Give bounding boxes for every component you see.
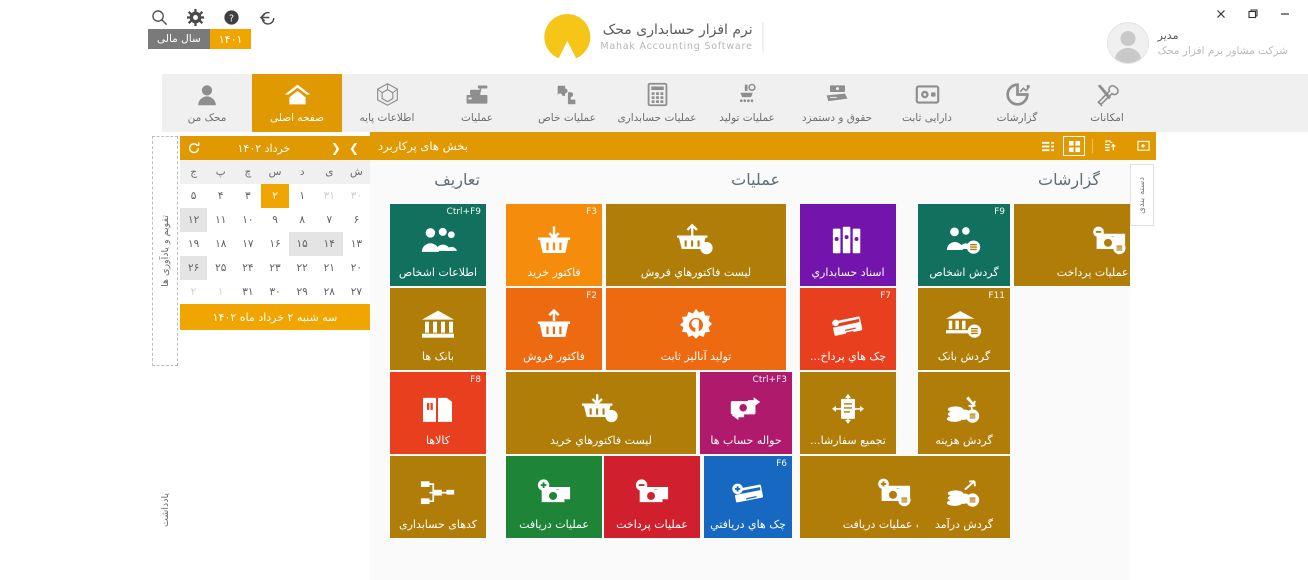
calendar-day[interactable]: ۸ (289, 208, 316, 232)
tile-label: عملیات پرداخت (604, 518, 700, 531)
dashboard-column-title: گزارشات (896, 170, 1106, 204)
dashboard-tile[interactable]: بانک ها (390, 288, 486, 370)
calendar-dow: چ (234, 160, 261, 184)
dashboard-columns: تعاریفCtrl+F9اطلاعات اشخاصبانک هاF8کالاه… (370, 160, 1130, 580)
user-organization: شرکت مشاور نرم افزار محک (1158, 45, 1288, 57)
dashboard-tile[interactable]: F7چک هاي پرداخ... (800, 288, 896, 370)
calendar-day[interactable]: ۴ (207, 184, 234, 208)
tile-label: کالاها (390, 434, 486, 447)
dashboard-column-3: گزارشاتF9گردش اشخاصF11گردش بانکگردش هزین… (896, 170, 1106, 580)
dashboard-column-0: تعاریفCtrl+F9اطلاعات اشخاصبانک هاF8کالاه… (376, 170, 486, 580)
dashboard-tile[interactable]: F11گردش بانک (918, 288, 1010, 370)
basket-up-icon (506, 307, 602, 343)
calendar-next-button[interactable]: ❮ (327, 142, 345, 154)
ribbon-tab-label: صفحه اصلی (270, 112, 324, 124)
logo-mark-icon (544, 14, 590, 60)
production-icon (735, 83, 760, 107)
logo-title-en: Mahak Accounting Software (600, 41, 752, 52)
tile-label: لیست فاکتورهاي فروش (606, 266, 786, 279)
logout-icon[interactable] (256, 6, 278, 28)
cash-minus-icon (604, 475, 700, 511)
cash-register-icon (464, 83, 490, 107)
account-tree-icon (390, 475, 486, 511)
ribbon-tab-label: امکانات (1090, 112, 1124, 124)
dashboard-view-tools (1037, 136, 1122, 156)
tile-hotkey: Ctrl+F9 (447, 207, 481, 217)
calendar-widget: ❯ ❮ خرداد ۱۴۰۲ شیدسچپج۳۰۳۱۱۲۳۴۵۶۷۸۹۱۰۱۱۱… (180, 136, 370, 330)
calendar-day[interactable]: ۳۱ (316, 184, 343, 208)
dashboard-tile[interactable]: F6چک هاي دریافتي (704, 456, 792, 538)
dashboard-tile[interactable]: Ctrl+F9اطلاعات اشخاص (390, 204, 486, 286)
app-logo: نرم افزار حسابداری محک Mahak Accounting … (544, 14, 763, 60)
ribbon-tab-4[interactable]: عملیات خاص (522, 74, 612, 132)
tile-hotkey: F7 (880, 291, 891, 301)
left-panel: تقویم و یادآوری هایادداشت ❯ ❮ خرداد ۱۴۰۲… (150, 132, 370, 580)
calendar-day[interactable]: ۲۰ (343, 256, 370, 280)
calendar-day[interactable]: ۲۸ (316, 280, 343, 304)
calculator-icon (645, 83, 670, 107)
help-icon[interactable]: ? (220, 6, 242, 28)
people-icon (390, 221, 486, 259)
tile-label: لیست فاکتورهاي خرید (506, 434, 696, 447)
coins-up-icon (918, 473, 1010, 511)
puzzle-piece-icon (554, 83, 580, 107)
dashboard-tile[interactable]: گردش درآمد (918, 456, 1010, 538)
dashboard-column-1: عملیاتF3فاکتور خریدF2فاکتور فروشلیست فاک… (486, 170, 786, 580)
calendar-day[interactable]: ۱۹ (180, 232, 207, 256)
cheque-card-icon (800, 307, 896, 343)
calendar-dow: د (289, 160, 316, 184)
calendar-day[interactable]: ۷ (316, 208, 343, 232)
calendar-day[interactable]: ۲ (261, 184, 288, 208)
tile-hotkey: F2 (586, 291, 597, 301)
calendar-day[interactable]: ۱ (289, 184, 316, 208)
ribbon-tab-label: اطلاعات پایه (360, 112, 415, 124)
calendar-dow: پ (207, 160, 234, 184)
home-icon (284, 83, 311, 107)
dashboard-panel: بخش های پرکاربرد (370, 132, 1130, 580)
ribbon-tab-label: محک من (188, 112, 227, 124)
calendar-day[interactable]: ۱۰ (234, 208, 261, 232)
dashboard-tile[interactable]: تولید آنالیز ثابت (606, 288, 786, 370)
application-window: ? (0, 0, 1308, 580)
calendar-day[interactable]: ۱۲ (180, 208, 207, 232)
calendar-day[interactable]: ۱ (207, 280, 234, 304)
grid-view-icon[interactable] (1063, 136, 1085, 156)
ribbon-tab-label: گزارشات (997, 112, 1038, 124)
calendar-day[interactable]: ۳۰ (261, 280, 288, 304)
calendar-day[interactable]: ۳۰ (343, 184, 370, 208)
dashboard-tile[interactable]: Ctrl+F3حواله حساب ها (700, 372, 792, 454)
dashboard-column-title: تعاریف (376, 170, 486, 204)
tile-label: اطلاعات اشخاص (390, 266, 486, 279)
calendar-day[interactable]: ۵ (180, 184, 207, 208)
dashboard-title: بخش های پرکاربرد (378, 139, 468, 153)
svg-text:?: ? (228, 13, 233, 24)
calendar-day[interactable]: ۲۶ (180, 256, 207, 280)
invoice-buy-icon (506, 389, 696, 427)
ribbon-tab-6[interactable]: عملیات تولید (702, 74, 792, 132)
user-avatar-icon (194, 83, 220, 107)
right-vertical-tab-label: دسته بندی (1137, 177, 1147, 214)
fiscal-year-selector[interactable]: ۱۴۰۱ سال مالی (148, 29, 251, 49)
ribbon-tab-1[interactable]: صفحه اصلی (252, 74, 342, 132)
calendar-day[interactable]: ۲ (180, 280, 207, 304)
tile-label: بانک ها (390, 350, 486, 363)
tile-label: تولید آنالیز ثابت (606, 350, 786, 363)
calendar-day[interactable]: ۲۱ (316, 256, 343, 280)
dashboard-column-2: اسناد حسابداريF7چک هاي پرداخ...تجمیع سفا… (786, 170, 896, 580)
gear-icon[interactable] (184, 6, 206, 28)
dashboard-tile[interactable]: F9گردش اشخاص (918, 204, 1010, 286)
cheque-plus-icon (704, 475, 792, 511)
ribbon-tab-label: عملیات (461, 112, 493, 124)
collapse-left-icon[interactable] (1130, 132, 1156, 160)
calendar-day[interactable]: ۲۴ (234, 256, 261, 280)
tile-label: تجمیع سفارشا... (800, 434, 896, 447)
payroll-icon (825, 83, 850, 107)
user-name: مدیر (1158, 29, 1288, 42)
calendar-dow: س (261, 160, 288, 184)
ribbon-tab-0[interactable]: محک من (162, 74, 252, 132)
ribbon-tab-10[interactable]: امکانات (1062, 74, 1152, 132)
search-icon[interactable] (148, 6, 170, 28)
avatar[interactable] (1107, 22, 1149, 64)
calendar-day[interactable]: ۱۷ (234, 232, 261, 256)
ledger-books-icon (800, 224, 896, 258)
calendar-dow: ی (316, 160, 343, 184)
left-vtab-1[interactable]: یادداشت (152, 450, 178, 570)
dashboard-tile[interactable]: لیست فاکتورهاي فروش (606, 204, 786, 286)
calendar-day[interactable]: ۶ (343, 208, 370, 232)
left-vertical-tabs: تقویم و یادآوری هایادداشت (150, 132, 178, 580)
ribbon-tab-label: عملیات حسابداری (617, 112, 696, 124)
calendar-header: ❯ ❮ خرداد ۱۴۰۲ (180, 136, 370, 160)
calendar-day[interactable]: ۲۷ (343, 280, 370, 304)
calendar-day[interactable]: ۲۵ (207, 256, 234, 280)
dashboard-tile[interactable]: F2فاکتور فروش (506, 288, 602, 370)
calendar-grid: شیدسچپج۳۰۳۱۱۲۳۴۵۶۷۸۹۱۰۱۱۱۲۱۳۱۴۱۵۱۶۱۷۱۸۱۹… (180, 160, 370, 304)
calendar-dow: ش (343, 160, 370, 184)
tile-label: گردش هزینه (918, 434, 1010, 447)
tile-label: چک هاي پرداخ... (800, 350, 896, 363)
bank-list-icon (918, 305, 1010, 343)
dashboard-column-title: عملیات (486, 170, 786, 204)
tile-hotkey: F9 (994, 207, 1005, 217)
ribbon-tab-3[interactable]: عملیات (432, 74, 522, 132)
tile-label: عملیات دریافت (506, 518, 602, 531)
refresh-icon[interactable] (187, 141, 201, 155)
calendar-day[interactable]: ۱۴ (316, 232, 343, 256)
calendar-day[interactable]: ۱۵ (289, 232, 316, 256)
logo-title-fa: نرم افزار حسابداری محک (600, 22, 752, 38)
dashboard-tile[interactable]: کدهای حسابداری (390, 456, 486, 538)
right-vertical-tab[interactable]: دسته بندی (1130, 164, 1154, 226)
dashboard-tile[interactable]: لیست فاکتورهاي خرید (506, 372, 696, 454)
right-side-panel: دسته بندی (1130, 132, 1308, 580)
people-list-icon (918, 221, 1010, 259)
ribbon-tab-2[interactable]: اطلاعات پایه (342, 74, 432, 132)
cube-icon (375, 83, 400, 107)
dashboard-column-title (786, 170, 896, 204)
ribbon-tab-label: دارایی ثابت (902, 112, 952, 124)
tile-group: Ctrl+F9اطلاعات اشخاصبانک هاF8کالاهاکدهای… (376, 204, 486, 549)
basket-down-icon (506, 223, 602, 259)
merge-orders-icon (800, 392, 896, 426)
ribbon-tab-label: عملیات تولید (719, 112, 775, 124)
tile-group: F3فاکتور خریدF2فاکتور فروشلیست فاکتورهاي… (486, 204, 786, 549)
tile-label: فاکتور خرید (506, 266, 602, 279)
tile-group: اسناد حسابداريF7چک هاي پرداخ...تجمیع سفا… (786, 204, 896, 549)
calendar-day[interactable]: ۱۶ (261, 232, 288, 256)
calendar-day[interactable]: ۱۱ (207, 208, 234, 232)
logo-text: نرم افزار حسابداری محک Mahak Accounting … (600, 22, 763, 52)
fiscal-year-value[interactable]: ۱۴۰۱ (210, 29, 252, 49)
tile-label: حواله حساب ها (700, 434, 792, 447)
coins-down-icon (918, 389, 1010, 427)
gear-wrench-icon (606, 308, 786, 342)
dashboard-toolbar: بخش های پرکاربرد (370, 132, 1130, 160)
tile-label: اسناد حسابداري (800, 266, 896, 279)
calendar-day[interactable]: ۲۳ (261, 256, 288, 280)
tile-label: فاکتور فروش (506, 350, 602, 363)
ribbon-tab-9[interactable]: گزارشات (972, 74, 1062, 132)
ribbon-tab-5[interactable]: عملیات حسابداری (612, 74, 702, 132)
dashboard-tile[interactable]: اسناد حسابداري (800, 204, 896, 286)
tools-icon (1095, 83, 1120, 107)
report-chart-icon (1005, 83, 1030, 107)
import-layout-icon[interactable] (1100, 136, 1122, 156)
left-vtab-0[interactable]: تقویم و یادآوری ها (152, 136, 178, 366)
dashboard-tile[interactable]: عملیات پرداخت (604, 456, 700, 538)
tile-label: چک هاي دریافتي (704, 518, 792, 531)
list-compact-icon[interactable] (1037, 136, 1059, 156)
tile-label: گردش بانک (918, 350, 1010, 363)
calendar-day[interactable]: ۱۸ (207, 232, 234, 256)
calendar-dow: ج (180, 160, 207, 184)
tile-label: گردش درآمد (918, 518, 1010, 531)
dashboard-tile[interactable]: تجمیع سفارشا... (800, 372, 896, 454)
calendar-prev-button[interactable]: ❯ (345, 142, 363, 154)
calendar-day[interactable]: ۱۳ (343, 232, 370, 256)
ribbon-tab-label: عملیات خاص (538, 112, 596, 124)
user-profile[interactable]: مدیر شرکت مشاور نرم افزار محک (1107, 22, 1288, 64)
calendar-day[interactable]: ۲۹ (289, 280, 316, 304)
tile-hotkey: Ctrl+F3 (753, 375, 787, 385)
tile-hotkey: F11 (988, 291, 1005, 301)
dashboard-tile[interactable]: F3فاکتور خرید (506, 204, 602, 286)
user-text: مدیر شرکت مشاور نرم افزار محک (1158, 29, 1288, 57)
tile-hotkey: F3 (586, 207, 597, 217)
transfer-cash-icon (700, 391, 792, 427)
dashboard-tile[interactable]: F8کالاها (390, 372, 486, 454)
dashboard-tile[interactable]: عملیات دریافت (506, 456, 602, 538)
title-bar: ? (0, 0, 1308, 70)
calendar-day[interactable]: ۳۱ (234, 280, 261, 304)
tile-label: گردش اشخاص (918, 266, 1010, 279)
cash-plus-icon (506, 475, 602, 511)
fiscal-year-label: سال مالی (148, 29, 210, 49)
tile-group: F9گردش اشخاصF11گردش بانکگردش هزینهگردش د… (896, 204, 1106, 549)
calendar-title: خرداد ۱۴۰۲ (201, 142, 327, 155)
dashboard-tile[interactable]: گردش هزینه (918, 372, 1010, 454)
bank-icon (390, 307, 486, 343)
calendar-day[interactable]: ۲۲ (289, 256, 316, 280)
main-ribbon-nav: محک منصفحه اصلیاطلاعات پایهعملیاتعملیات … (162, 74, 1308, 132)
invoice-sale-icon (606, 221, 786, 259)
goods-box-icon (390, 392, 486, 426)
calendar-day[interactable]: ۹ (261, 208, 288, 232)
tile-label: کدهای حسابداری (390, 518, 486, 531)
tile-hotkey: F8 (470, 375, 481, 385)
ribbon-tab-label: حقوق و دستمزد (802, 112, 872, 124)
ribbon-tab-8[interactable]: دارایی ثابت (882, 74, 972, 132)
left-vtab-label: تقویم و یادآوری ها (160, 215, 171, 287)
safe-box-icon (915, 83, 940, 107)
ribbon-tab-7[interactable]: حقوق و دستمزد (792, 74, 882, 132)
left-vtab-label: یادداشت (160, 493, 171, 527)
calendar-day[interactable]: ۳ (234, 184, 261, 208)
top-icon-bar: ? (148, 6, 278, 28)
calendar-selected-date: سه شنبه ۲ خرداد ماه ۱۴۰۲ (180, 304, 370, 330)
